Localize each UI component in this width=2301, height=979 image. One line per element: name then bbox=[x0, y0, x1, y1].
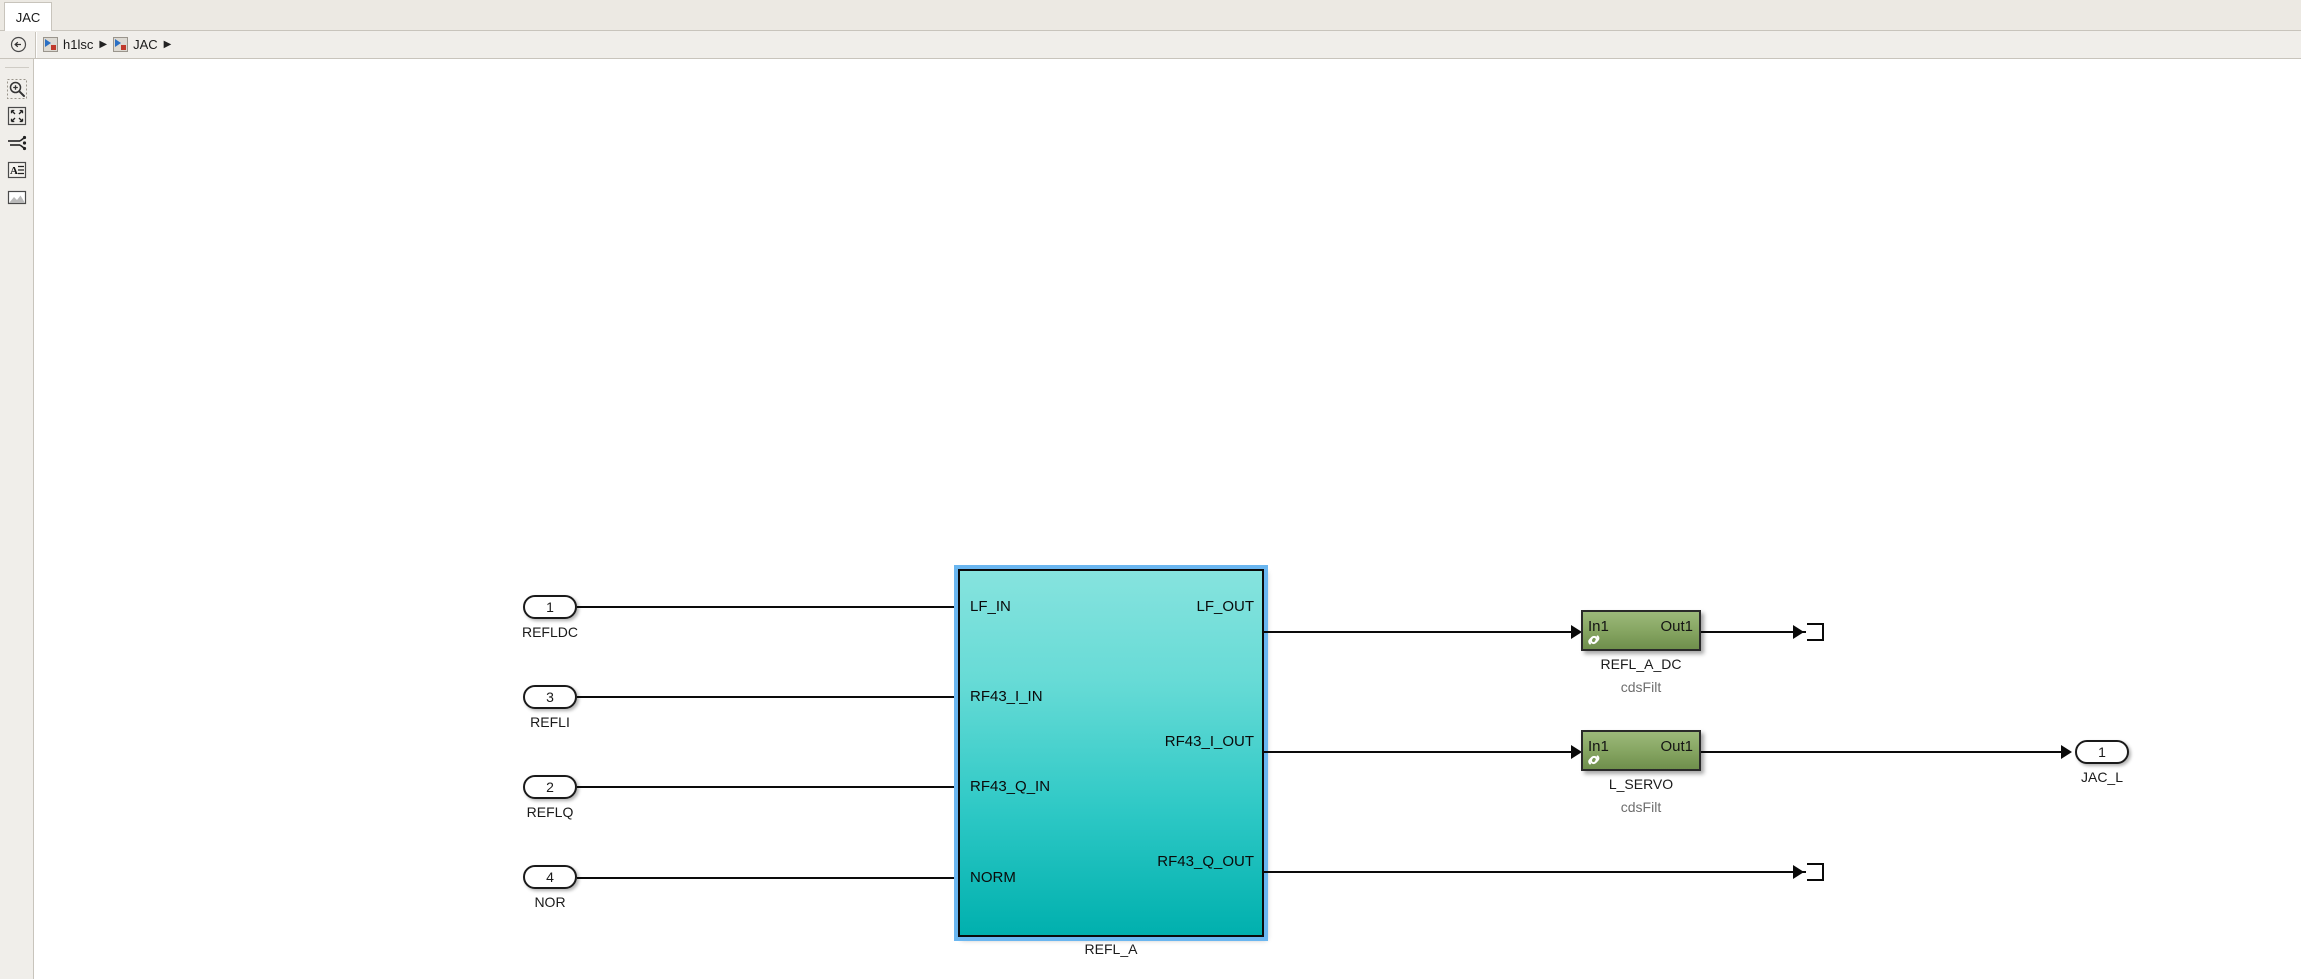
outport-label-jac-l: JAC_L bbox=[2045, 769, 2159, 785]
library-link-icon bbox=[1586, 632, 1602, 648]
inport-reflq[interactable]: 2 bbox=[523, 775, 577, 799]
inport-number: 3 bbox=[546, 689, 554, 705]
wire-nor-to-norm bbox=[577, 877, 987, 879]
filter-label-l-servo: L_SERVO bbox=[1581, 776, 1701, 792]
subsystem-inport-rf43-i-in: RF43_I_IN bbox=[970, 688, 1043, 705]
inport-label-nor: NOR bbox=[493, 894, 607, 910]
breadcrumb-label: JAC bbox=[133, 37, 158, 52]
breadcrumb-label: h1lsc bbox=[63, 37, 93, 52]
subsystem-outport-lf-out: LF_OUT bbox=[1196, 598, 1254, 615]
back-arrow-icon[interactable] bbox=[5, 32, 31, 58]
simulink-subsystem-icon bbox=[113, 37, 128, 52]
subsystem-refl-a[interactable]: LF_IN RF43_I_IN RF43_Q_IN NORM LF_OUT RF… bbox=[958, 569, 1264, 937]
subsystem-inport-lf-in: LF_IN bbox=[970, 598, 1011, 615]
filter-outport-label: Out1 bbox=[1660, 618, 1693, 635]
zoom-in-icon[interactable] bbox=[4, 76, 30, 102]
terminator-rf43-q-out[interactable] bbox=[1807, 863, 1824, 881]
subsystem-inport-rf43-q-in: RF43_Q_IN bbox=[970, 778, 1050, 795]
wire-refldc-to-lfin bbox=[577, 606, 987, 608]
fit-to-view-icon[interactable] bbox=[4, 103, 30, 129]
subsystem-outport-rf43-i-out: RF43_I_OUT bbox=[1165, 733, 1254, 750]
wire-rf43qout-to-terminator bbox=[1264, 871, 1806, 873]
annotation-text-icon[interactable]: A bbox=[4, 157, 30, 183]
filter-type-label: cdsFilt bbox=[1581, 799, 1701, 815]
wire-arrow bbox=[1793, 865, 1804, 879]
wire-lfout-to-refl-a-dc bbox=[1264, 631, 1580, 633]
tab-bar: JAC bbox=[0, 0, 2301, 31]
tab-label: JAC bbox=[16, 10, 41, 25]
filter-label-refl-a-dc: REFL_A_DC bbox=[1581, 656, 1701, 672]
svg-text:A: A bbox=[10, 165, 18, 177]
outport-jac-l[interactable]: 1 bbox=[2075, 740, 2129, 764]
library-link-icon bbox=[1586, 752, 1602, 768]
filter-block-refl-a-dc[interactable]: In1 Out1 bbox=[1581, 610, 1701, 651]
inport-number: 1 bbox=[546, 599, 554, 615]
filter-type-label: cdsFilt bbox=[1581, 679, 1701, 695]
image-block-icon[interactable] bbox=[4, 184, 30, 210]
wire-rf43iout-to-l-servo bbox=[1264, 751, 1580, 753]
inport-label-reflq: REFLQ bbox=[493, 804, 607, 820]
signal-hierarchy-icon[interactable] bbox=[4, 130, 30, 156]
model-canvas[interactable]: 1 REFLDC 3 REFLI 2 REFLQ 4 NOR LF_IN RF4… bbox=[35, 59, 2301, 979]
breadcrumb-bar: h1lsc ▶ JAC ▶ bbox=[0, 31, 2301, 59]
wire-l-servo-to-jac-l bbox=[1701, 751, 2070, 753]
inport-nor[interactable]: 4 bbox=[523, 865, 577, 889]
breadcrumb-divider bbox=[35, 32, 37, 58]
inport-number: 4 bbox=[546, 869, 554, 885]
toolbar-divider bbox=[5, 67, 29, 68]
tab-jac[interactable]: JAC bbox=[4, 2, 52, 31]
wire-arrow bbox=[2061, 745, 2072, 759]
left-toolbar: A bbox=[0, 59, 34, 979]
outport-number: 1 bbox=[2098, 744, 2106, 760]
inport-label-refli: REFLI bbox=[493, 714, 607, 730]
subsystem-inport-norm: NORM bbox=[970, 869, 1016, 886]
breadcrumb-arrow-icon: ▶ bbox=[164, 40, 172, 50]
wire-refli-to-rf43iin bbox=[577, 696, 987, 698]
inport-number: 2 bbox=[546, 779, 554, 795]
breadcrumb-arrow-icon: ▶ bbox=[99, 40, 107, 50]
wire-arrow bbox=[1793, 625, 1804, 639]
inport-label-refldc: REFLDC bbox=[493, 624, 607, 640]
wire-reflq-to-rf43qin bbox=[577, 786, 987, 788]
breadcrumb-item-h1lsc[interactable]: h1lsc bbox=[43, 37, 93, 52]
terminator-lf-out[interactable] bbox=[1807, 623, 1824, 641]
breadcrumb-item-jac[interactable]: JAC bbox=[113, 37, 158, 52]
subsystem-outport-rf43-q-out: RF43_Q_OUT bbox=[1157, 853, 1254, 870]
wire-refl-a-dc-to-terminator bbox=[1701, 631, 1806, 633]
filter-outport-label: Out1 bbox=[1660, 738, 1693, 755]
inport-refldc[interactable]: 1 bbox=[523, 595, 577, 619]
subsystem-label-refl-a: REFL_A bbox=[958, 941, 1264, 957]
inport-refli[interactable]: 3 bbox=[523, 685, 577, 709]
simulink-model-icon bbox=[43, 37, 58, 52]
filter-block-l-servo[interactable]: In1 Out1 bbox=[1581, 730, 1701, 771]
